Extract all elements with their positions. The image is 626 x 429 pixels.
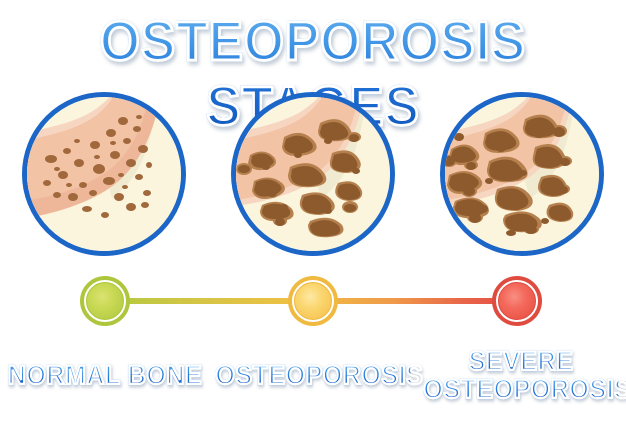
osteoporosis-illustration	[231, 92, 395, 256]
severe-osteoporosis-svg	[445, 97, 599, 251]
illustration-row	[0, 92, 626, 262]
marker-core	[499, 283, 535, 319]
severe-osteoporosis-illustration	[440, 92, 604, 256]
stage-label-line1: SEVERE	[423, 348, 618, 376]
marker-core	[295, 283, 331, 319]
stage-marker-severe[interactable]	[492, 276, 542, 326]
stage-marker-normal[interactable]	[80, 276, 130, 326]
stage-label-line2: OSTEOPOROSIS	[423, 376, 618, 404]
stage-label-line1: NORMAL BONE	[7, 362, 202, 390]
normal-bone-svg	[27, 97, 181, 251]
stage-timeline	[0, 272, 626, 330]
stage-label-normal-bone: NORMAL BONE	[0, 362, 210, 390]
stage-label-osteoporosis: OSTEOPOROSIS	[208, 362, 418, 390]
osteoporosis-stages-infographic: OSTEOPOROSIS STAGES	[0, 0, 626, 429]
stage-label-line1: OSTEOPOROSIS	[215, 362, 410, 390]
osteoporosis-svg	[236, 97, 390, 251]
stage-marker-osteoporosis[interactable]	[288, 276, 338, 326]
stage-label-severe-osteoporosis: SEVERE OSTEOPOROSIS	[416, 348, 626, 403]
stage-labels: NORMAL BONE OSTEOPOROSIS SEVERE OSTEOPOR…	[0, 352, 626, 429]
marker-core	[87, 283, 123, 319]
normal-bone-illustration	[22, 92, 186, 256]
